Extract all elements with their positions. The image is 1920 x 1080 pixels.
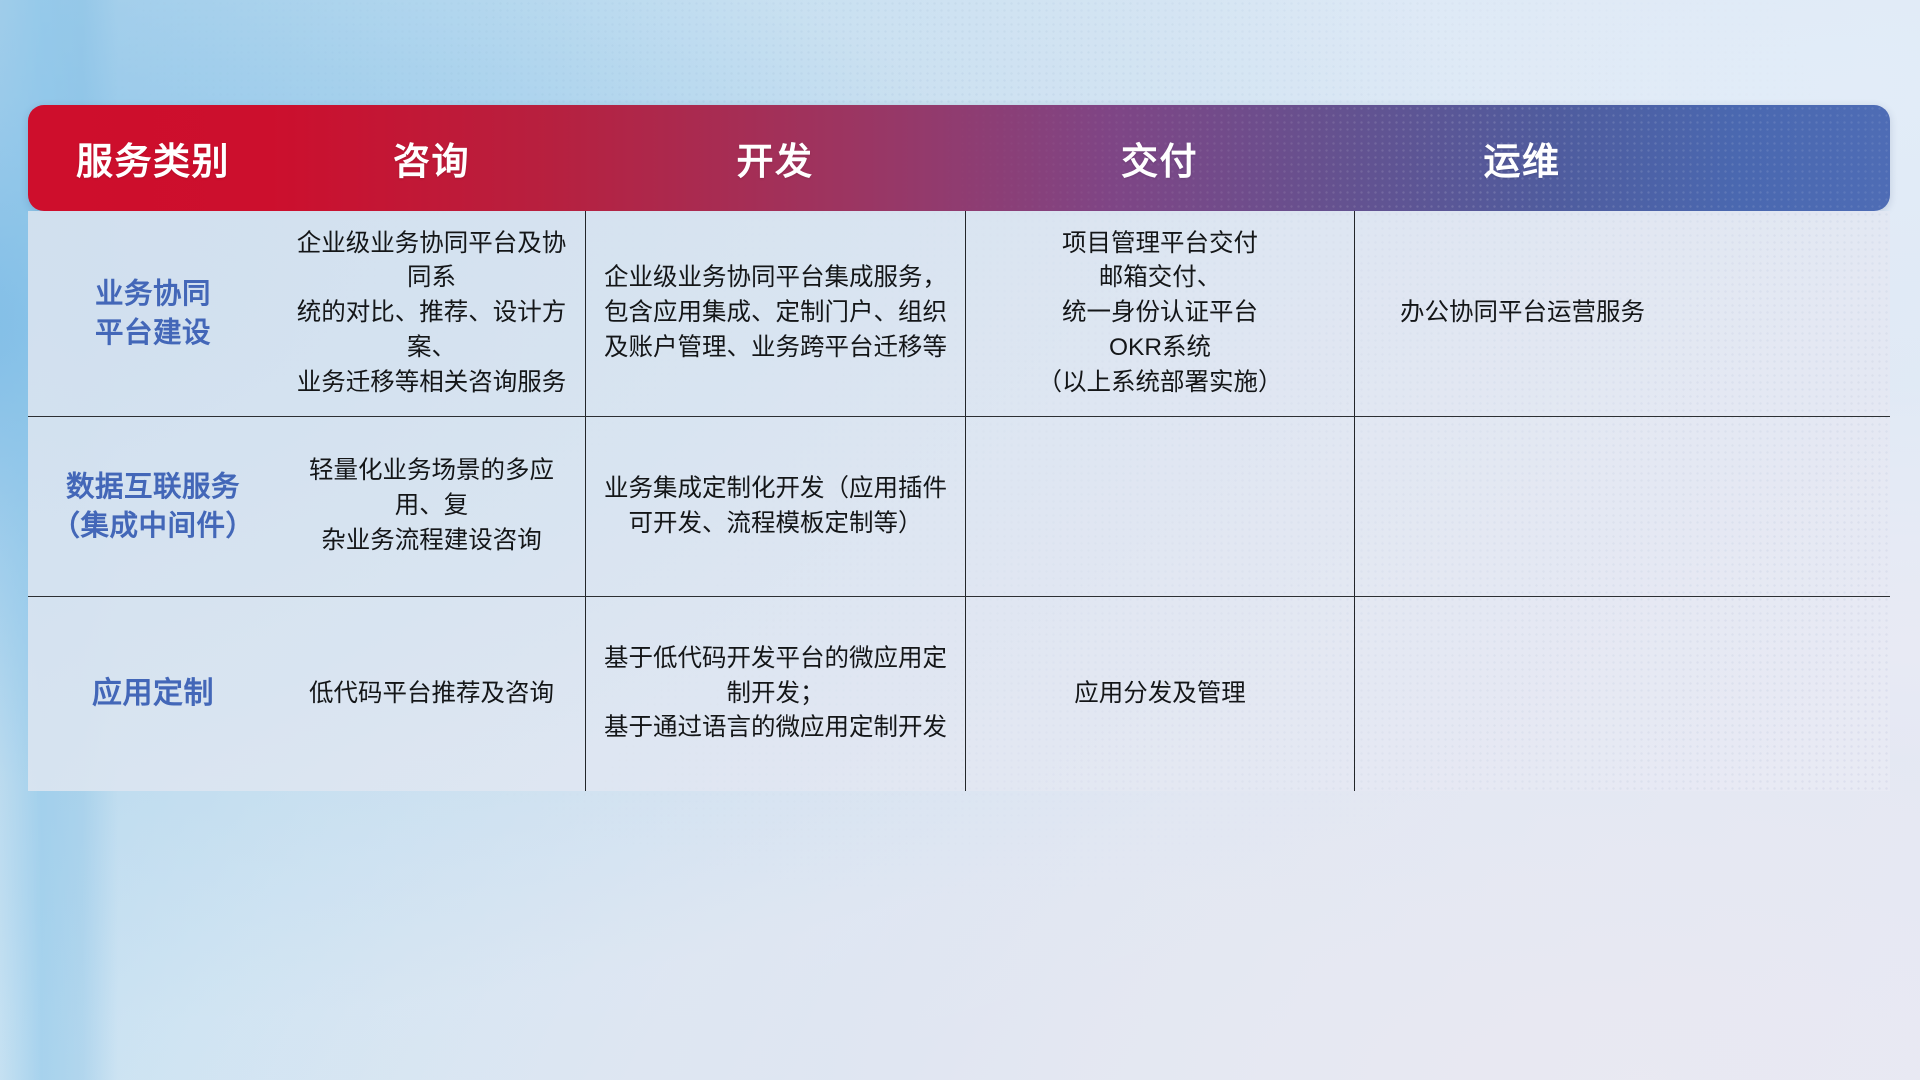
column-header-delivery: 交付 — [965, 105, 1354, 211]
cell-delivery: 项目管理平台交付 邮箱交付、 统一身份认证平台 OKR系统 （以上系统部署实施） — [965, 211, 1354, 416]
cell-category: 业务协同 平台建设 — [28, 211, 278, 416]
column-header-development: 开发 — [585, 105, 965, 211]
cell-category: 数据互联服务 （集成中间件） — [28, 417, 278, 596]
table-row: 业务协同 平台建设企业级业务协同平台及协同系 统的对比、推荐、设计方案、 业务迁… — [28, 211, 1890, 416]
cell-delivery: 应用分发及管理 — [965, 597, 1354, 791]
cell-delivery — [965, 417, 1354, 596]
table-row: 应用定制低代码平台推荐及咨询基于低代码开发平台的微应用定 制开发； 基于通过语言… — [28, 596, 1890, 791]
cell-development: 基于低代码开发平台的微应用定 制开发； 基于通过语言的微应用定制开发 — [585, 597, 965, 791]
cell-consulting: 轻量化业务场景的多应用、复 杂业务流程建设咨询 — [278, 417, 585, 596]
cell-consulting: 企业级业务协同平台及协同系 统的对比、推荐、设计方案、 业务迁移等相关咨询服务 — [278, 211, 585, 416]
cell-development: 企业级业务协同平台集成服务， 包含应用集成、定制门户、组织 及账户管理、业务跨平… — [585, 211, 965, 416]
cell-consulting: 低代码平台推荐及咨询 — [278, 597, 585, 791]
service-matrix-table: 服务类别咨询开发交付运维 业务协同 平台建设企业级业务协同平台及协同系 统的对比… — [28, 105, 1890, 775]
cell-operations — [1354, 597, 1690, 791]
table-body: 业务协同 平台建设企业级业务协同平台及协同系 统的对比、推荐、设计方案、 业务迁… — [28, 211, 1890, 791]
cell-category: 应用定制 — [28, 597, 278, 791]
column-header-consulting: 咨询 — [278, 105, 585, 211]
table-row: 数据互联服务 （集成中间件）轻量化业务场景的多应用、复 杂业务流程建设咨询业务集… — [28, 416, 1890, 596]
cell-development: 业务集成定制化开发（应用插件 可开发、流程模板定制等） — [585, 417, 965, 596]
table-header-row: 服务类别咨询开发交付运维 — [28, 105, 1890, 211]
cell-operations — [1354, 417, 1690, 596]
column-header-category: 服务类别 — [28, 105, 278, 211]
cell-operations: 办公协同平台运营服务 — [1354, 211, 1690, 416]
column-header-operations: 运维 — [1354, 105, 1690, 211]
